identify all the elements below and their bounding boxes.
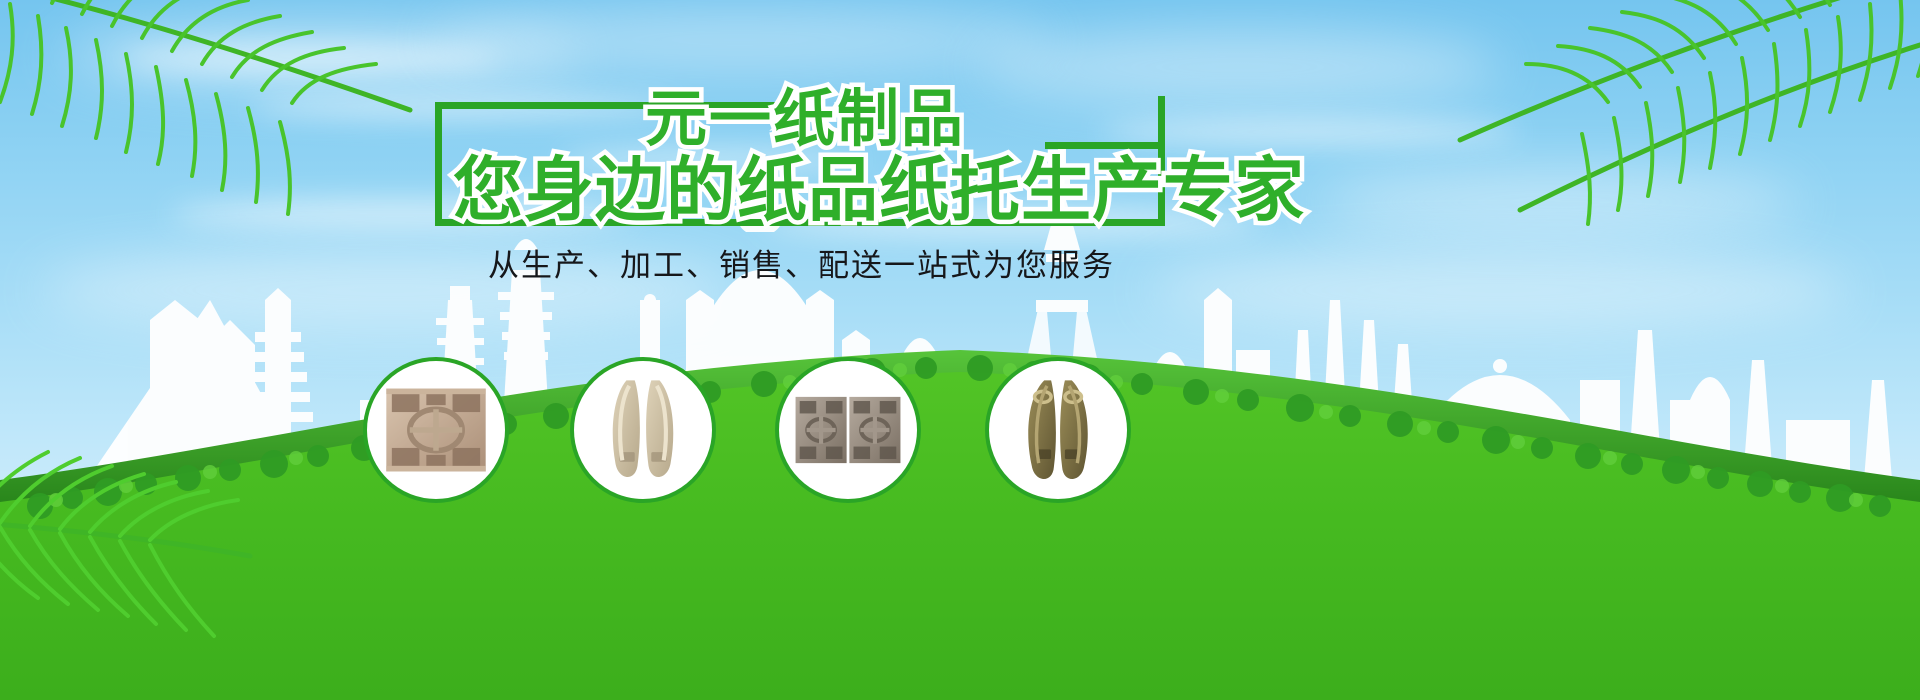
headline-block: 元一纸制品 您身边的纸品纸托生产专家 (435, 96, 1165, 226)
banner-subtitle: 从生产、加工、销售、配送一站式为您服务 (488, 240, 1128, 285)
frame-left-edge (435, 102, 442, 226)
palm-frond-icon (0, 330, 370, 670)
headline-line-2: 您身边的纸品纸托生产专家 (453, 134, 1305, 235)
product-circle-paper-pulp-tray-pair[interactable] (775, 357, 921, 503)
product-circle-paper-pulp-shoe-inserts-dark[interactable] (985, 357, 1131, 503)
palm-frond-icon (0, 0, 460, 260)
paper-pulp-tray-pair-image (779, 361, 917, 499)
palm-frond-icon (1400, 0, 1920, 260)
paper-pulp-shoe-inserts-dark-image (989, 361, 1127, 499)
product-circle-paper-pulp-shoe-inserts-light[interactable] (570, 357, 716, 503)
paper-pulp-tray-square-image (367, 361, 505, 499)
product-circle-paper-pulp-tray-square[interactable] (363, 357, 509, 503)
hero-banner: 元一纸制品 您身边的纸品纸托生产专家 从生产、加工、销售、配送一站式为您服务 (0, 0, 1920, 700)
paper-pulp-shoe-inserts-light-image (574, 361, 712, 499)
